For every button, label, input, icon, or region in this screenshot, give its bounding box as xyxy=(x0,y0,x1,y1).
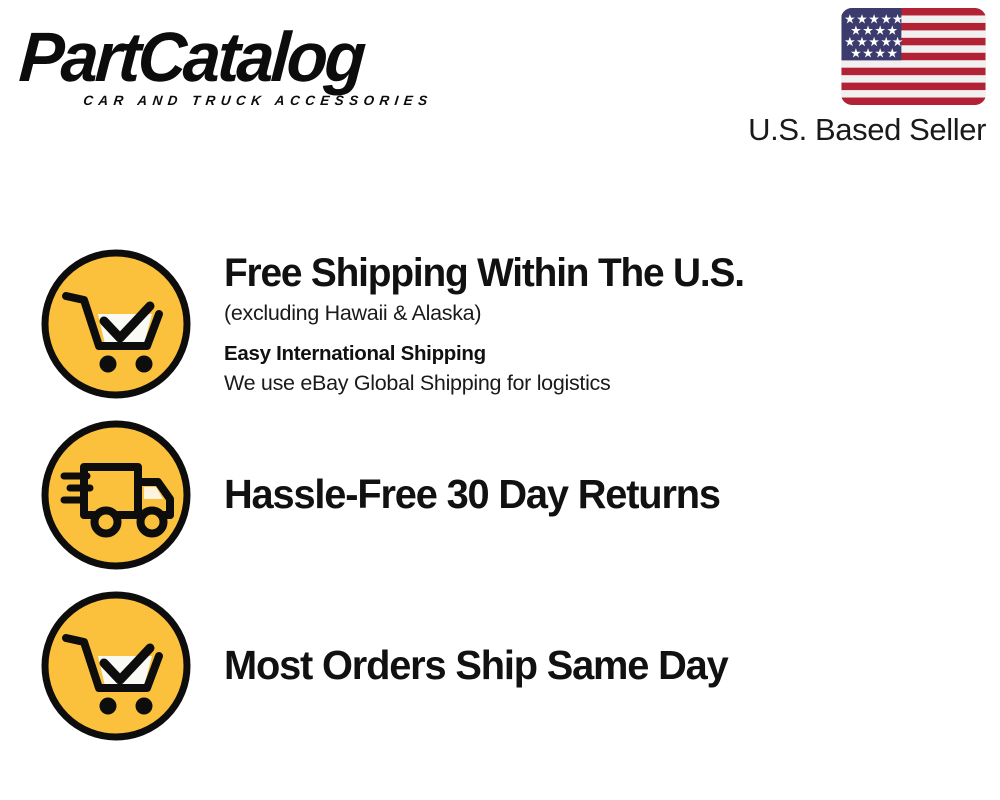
feature-row: Free Shipping Within The U.S. (excluding… xyxy=(40,248,980,400)
page-header: PartCatalog CAR AND TRUCK ACCESSORIES xyxy=(0,0,1000,170)
feature-text-block: Most Orders Ship Same Day xyxy=(192,642,980,690)
shopping-cart-check-icon xyxy=(40,248,192,400)
us-flag-icon xyxy=(841,8,986,105)
feature-row: Most Orders Ship Same Day xyxy=(40,590,980,742)
brand-logo[interactable]: PartCatalog CAR AND TRUCK ACCESSORIES xyxy=(22,22,492,114)
brand-tagline: CAR AND TRUCK ACCESSORIES xyxy=(83,94,434,108)
feature-text-block: Hassle-Free 30 Day Returns xyxy=(192,471,980,519)
delivery-truck-icon xyxy=(40,419,192,571)
feature-secondary-note: We use eBay Global Shipping for logistic… xyxy=(224,369,980,397)
seller-badge: U.S. Based Seller xyxy=(716,8,986,148)
feature-title: Hassle-Free 30 Day Returns xyxy=(224,471,957,517)
brand-wordmark: PartCatalog xyxy=(17,22,365,92)
feature-row: Hassle-Free 30 Day Returns xyxy=(40,419,980,571)
shopping-cart-check-icon xyxy=(40,590,192,742)
seller-badge-label: U.S. Based Seller xyxy=(716,112,986,148)
feature-secondary-title: Easy International Shipping xyxy=(224,341,980,367)
feature-subtitle: (excluding Hawaii & Alaska) xyxy=(224,299,980,327)
feature-title: Free Shipping Within The U.S. xyxy=(224,250,957,296)
feature-text-block: Free Shipping Within The U.S. (excluding… xyxy=(192,250,980,399)
feature-title: Most Orders Ship Same Day xyxy=(224,642,957,688)
